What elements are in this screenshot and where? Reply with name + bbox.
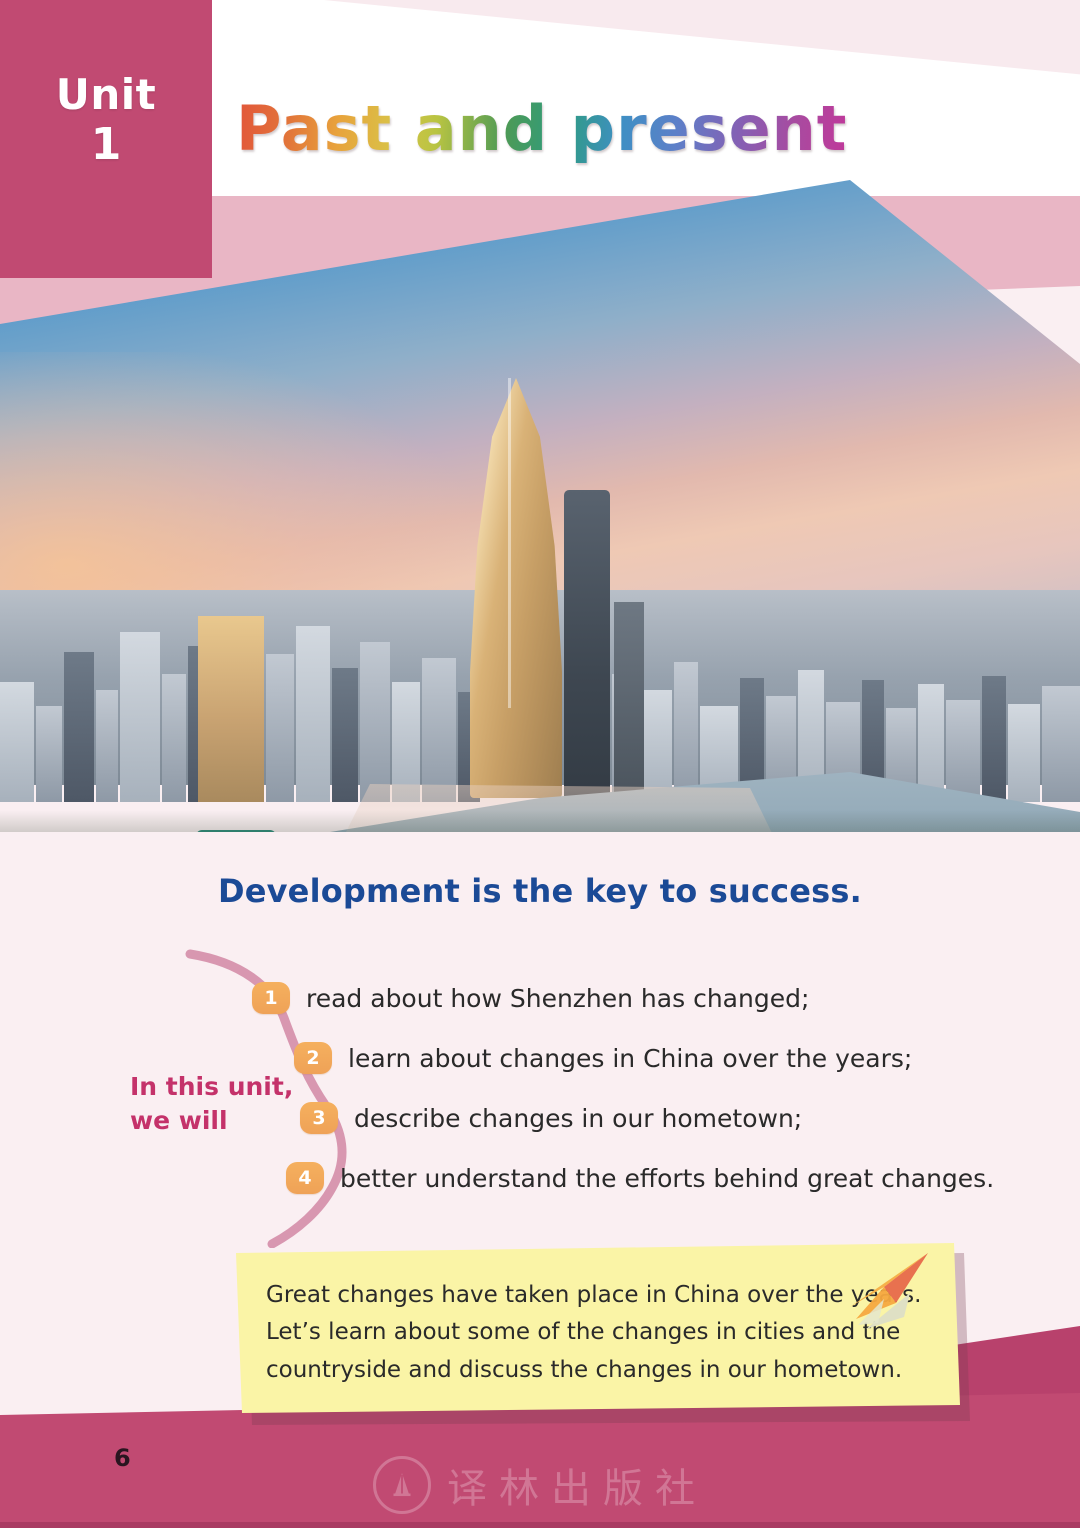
- objective-text-4: better understand the efforts behind gre…: [340, 1164, 994, 1193]
- objective-badge-3: 3: [300, 1102, 338, 1134]
- secondary-tower: [614, 602, 644, 802]
- objective-item-3: 3 describe changes in our hometown;: [300, 1102, 802, 1134]
- objectives-intro: In this unit, we will: [130, 1070, 300, 1138]
- dark-tower: [564, 490, 610, 800]
- objective-text-3: describe changes in our hometown;: [354, 1104, 802, 1133]
- objective-item-2: 2 learn about changes in China over the …: [294, 1042, 912, 1074]
- page-title: Past and present: [236, 92, 847, 165]
- objective-item-4: 4 better understand the efforts behind g…: [286, 1162, 994, 1194]
- unit-objectives: In this unit, we will 1 read about how S…: [0, 960, 1080, 1220]
- objective-badge-1: 1: [252, 982, 290, 1014]
- footer-bottom-strip: [0, 1522, 1080, 1528]
- objectives-intro-line1: In this unit,: [130, 1072, 293, 1101]
- objective-badge-2: 2: [294, 1042, 332, 1074]
- objective-text-1: read about how Shenzhen has changed;: [306, 984, 809, 1013]
- callout-box: Great changes have taken place in China …: [236, 1243, 960, 1413]
- sunset-glow: [0, 352, 470, 602]
- textbook-page: Unit 1 Past and present Development is t…: [0, 0, 1080, 1528]
- objectives-intro-line2: we will: [130, 1106, 228, 1135]
- callout-text: Great changes have taken place in China …: [266, 1277, 926, 1389]
- publisher-logo-icon: [373, 1456, 431, 1514]
- unit-panel: Unit 1: [0, 0, 212, 278]
- publisher-name: 译林出版社: [447, 1456, 707, 1514]
- tower-highlight: [508, 378, 511, 708]
- page-number: 6: [114, 1444, 131, 1472]
- paper-plane-icon: [844, 1247, 938, 1329]
- unit-headline: Development is the key to success.: [0, 872, 1080, 910]
- photo-bottom-shade: [0, 810, 1080, 834]
- publisher-watermark: 译林出版社: [0, 1456, 1080, 1514]
- unit-number: 1: [91, 120, 122, 171]
- objective-item-1: 1 read about how Shenzhen has changed;: [252, 982, 809, 1014]
- objective-badge-4: 4: [286, 1162, 324, 1194]
- unit-label: Unit: [56, 74, 156, 116]
- objective-text-2: learn about changes in China over the ye…: [348, 1044, 912, 1073]
